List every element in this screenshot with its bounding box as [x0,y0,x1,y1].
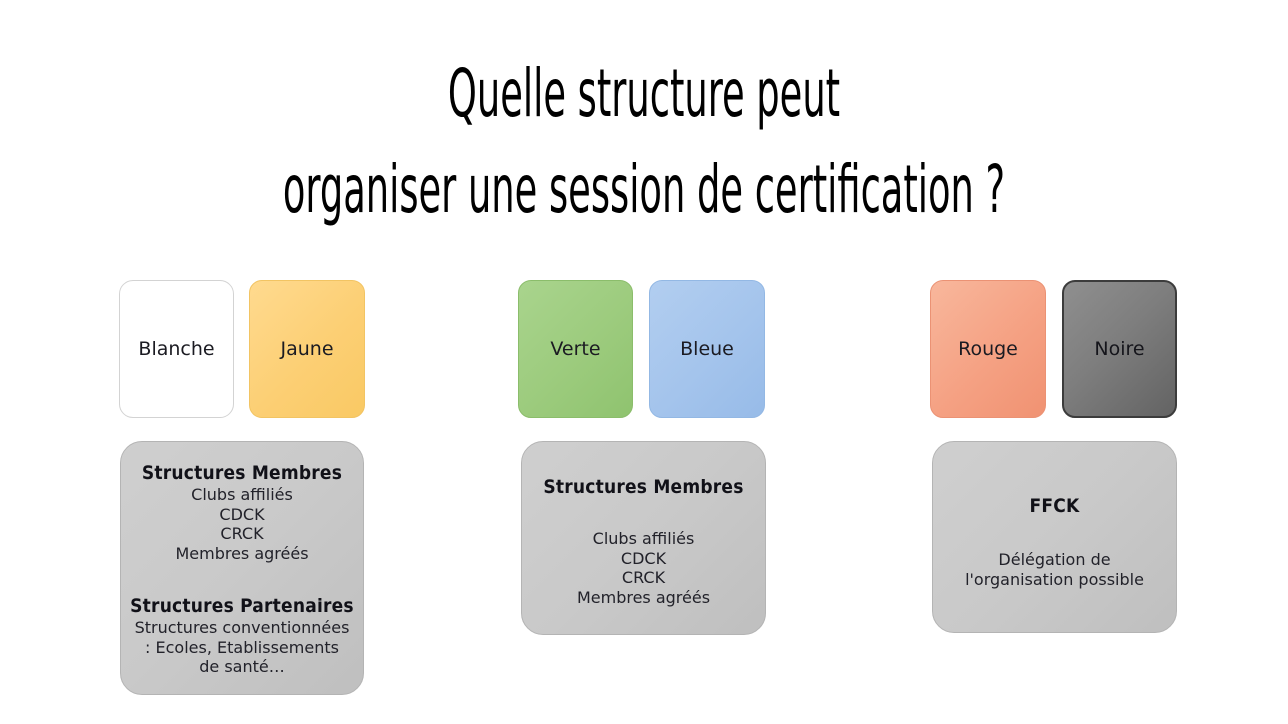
info-panel-blanche-jaune: Structures Membres Clubs affiliés CDCK C… [120,441,364,695]
panel-section-heading: Structures Partenaires [121,594,363,618]
color-card-blanche[interactable]: Blanche [119,280,234,418]
panel-line: Structures conventionnées [121,618,363,638]
panel-line: CRCK [522,568,765,588]
panel-section-heading: Structures Membres [522,475,765,499]
color-card-rouge-label: Rouge [958,338,1018,360]
color-card-noire[interactable]: Noire [1062,280,1177,418]
color-card-blanche-label: Blanche [138,338,214,360]
color-card-verte-label: Verte [550,338,600,360]
page-title-line-1: Quelle structure peut [245,46,1044,142]
page-title: Quelle structure peut organiser une sess… [245,46,1044,238]
color-card-verte[interactable]: Verte [518,280,633,418]
panel-line: CRCK [121,524,363,544]
color-card-bleue[interactable]: Bleue [649,280,765,418]
panel-line: Membres agréés [121,544,363,564]
panel-line: l'organisation possible [933,570,1176,590]
panel-line: CDCK [121,505,363,525]
info-panel-rouge-noire: FFCK Délégation de l'organisation possib… [932,441,1177,633]
panel-line: de santé… [121,657,363,677]
color-card-jaune[interactable]: Jaune [249,280,365,418]
panel-line: Clubs affiliés [121,485,363,505]
panel-line: CDCK [522,549,765,569]
panel-line: Délégation de [933,550,1176,570]
panel-section-body: Clubs affiliés CDCK CRCK Membres agréés [522,529,765,607]
panel-section-body: Délégation de l'organisation possible [933,550,1176,589]
info-panel-verte-bleue: Structures Membres Clubs affiliés CDCK C… [521,441,766,635]
panel-section-structures-partenaires: Structures Partenaires Structures conven… [121,594,363,677]
panel-section-heading: Structures Membres [121,461,363,485]
panel-line: Clubs affiliés [522,529,765,549]
page-title-line-2: organiser une session de certification ? [245,142,1044,238]
panel-line: : Ecoles, Etablissements [121,638,363,658]
panel-section-structures-membres: Structures Membres Clubs affiliés CDCK C… [121,461,363,563]
color-card-rouge[interactable]: Rouge [930,280,1046,418]
panel-section-heading: FFCK [933,494,1176,518]
panel-line: Membres agréés [522,588,765,608]
color-card-noire-label: Noire [1094,338,1144,360]
color-card-bleue-label: Bleue [680,338,734,360]
color-card-jaune-label: Jaune [280,338,333,360]
